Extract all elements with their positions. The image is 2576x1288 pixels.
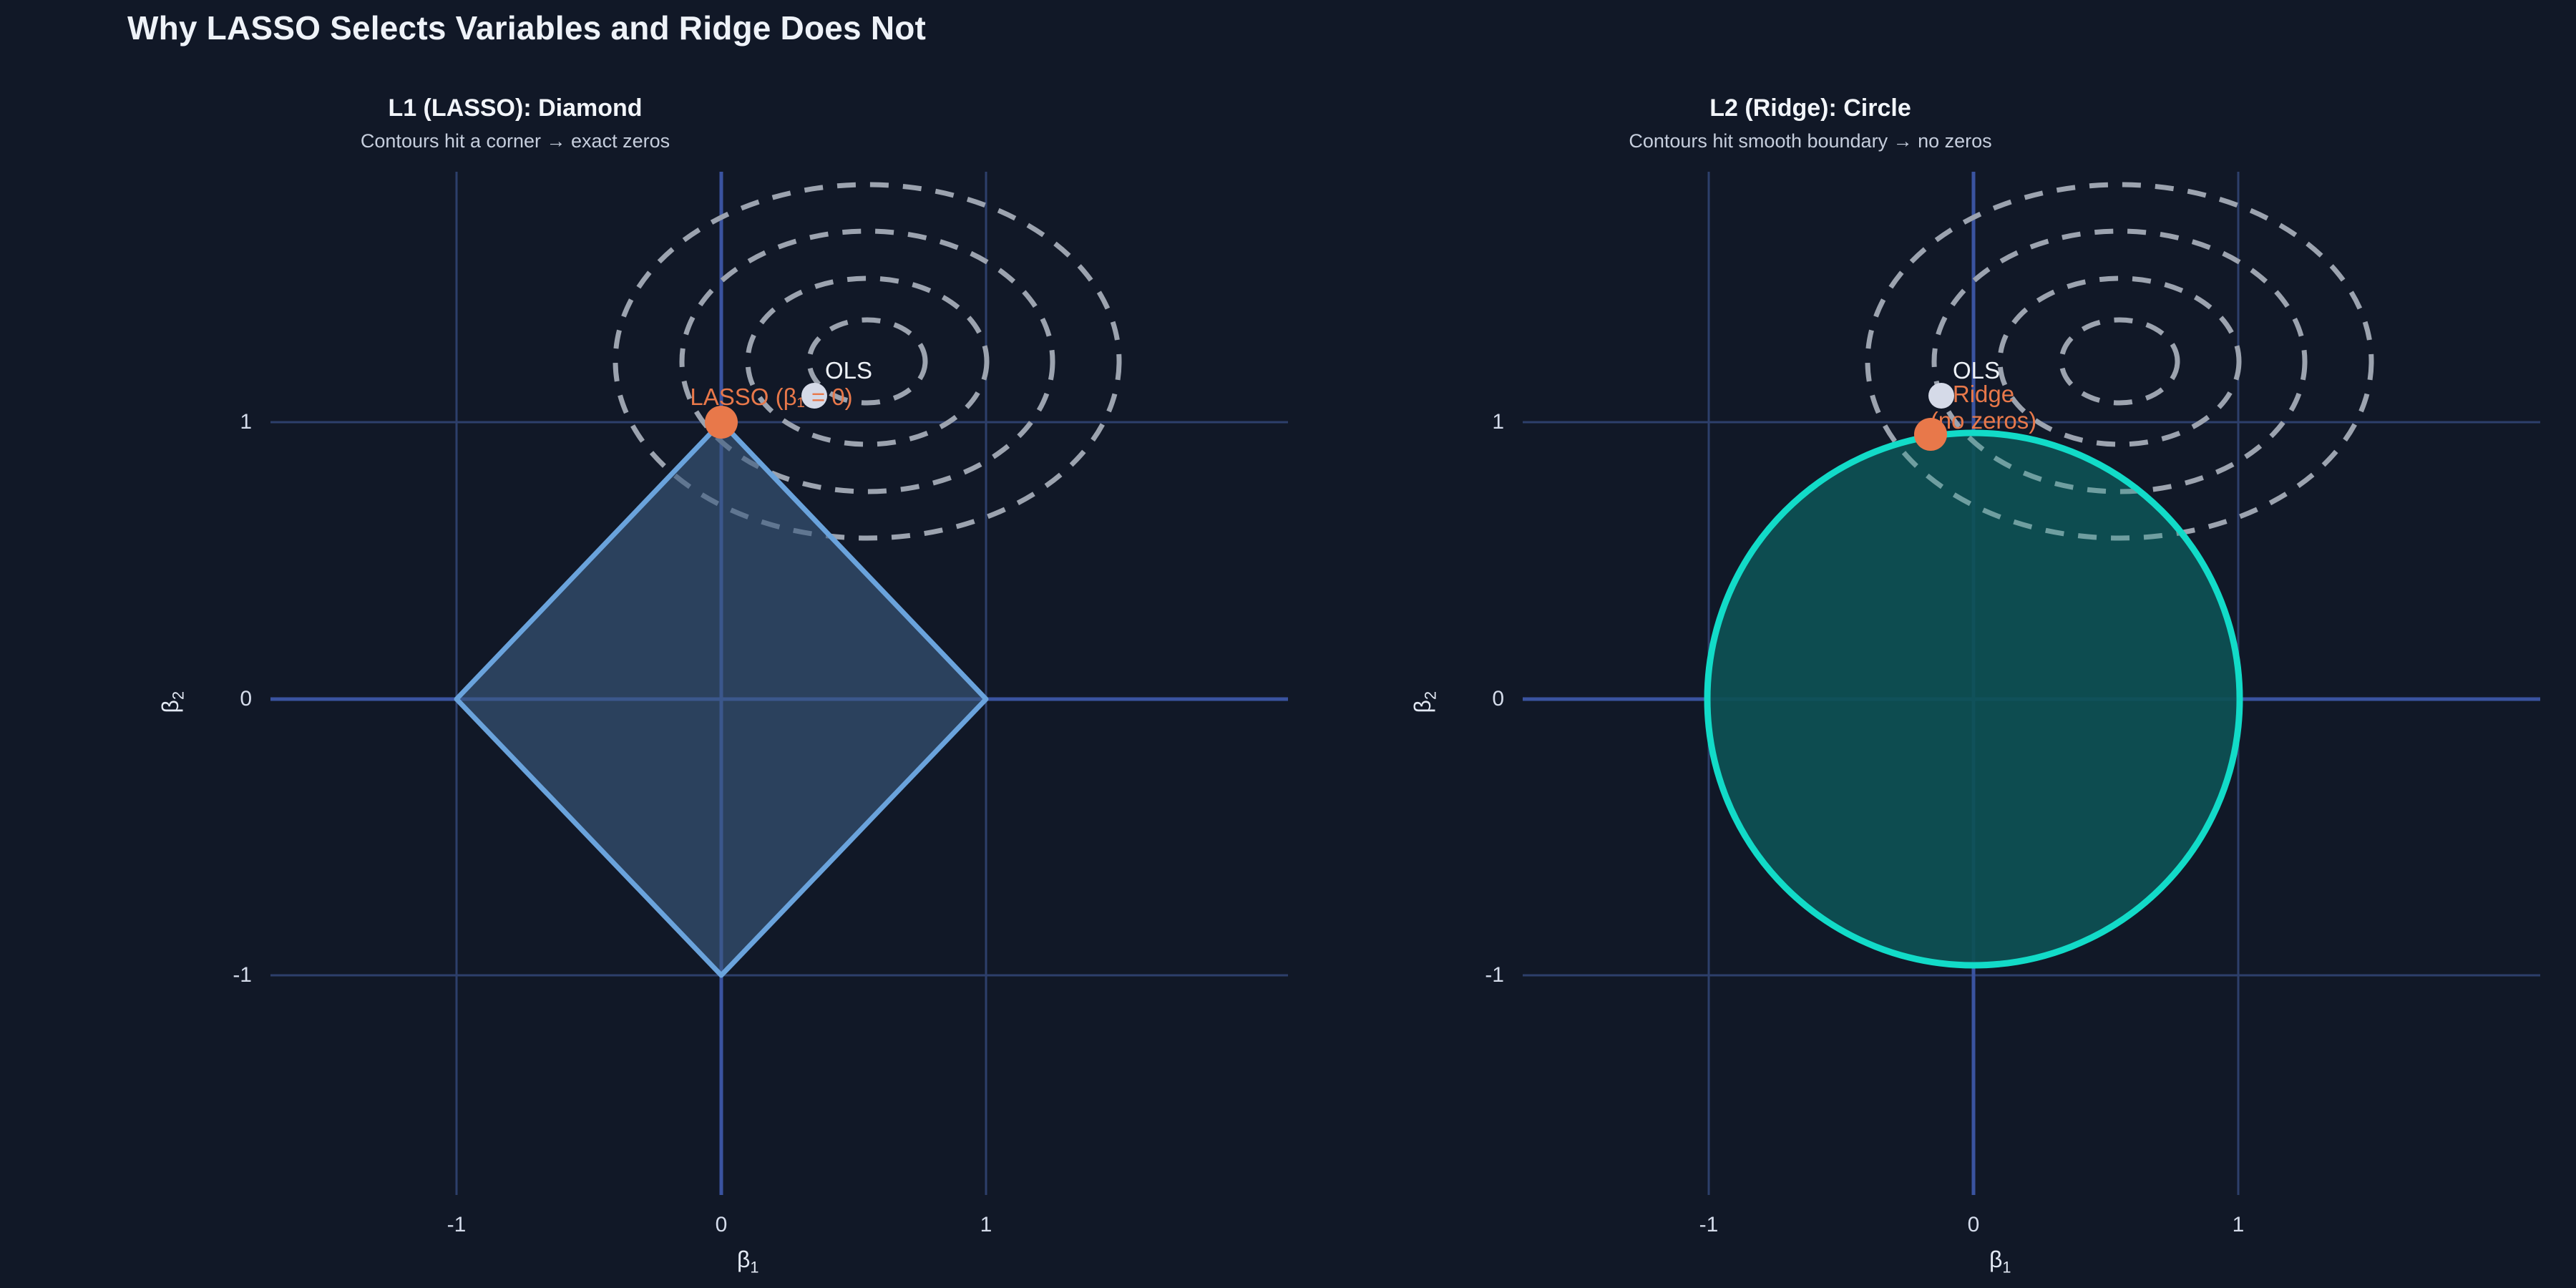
- lasso-solution-point: [705, 406, 738, 439]
- xtick-ridge-0: 0: [1968, 1213, 1980, 1237]
- xaxis-label-ridge: β1: [1989, 1246, 2011, 1277]
- panel-lasso: L1 (LASSO): Diamond Contours hit a corne…: [0, 0, 1288, 1288]
- panel-ridge: L2 (Ridge): Circle Contours hit smooth b…: [1288, 0, 2576, 1288]
- plot-area-lasso: [0, 0, 1288, 1288]
- ytick-lasso-neg1: -1: [187, 963, 252, 987]
- plot-area-ridge: [1288, 0, 2576, 1288]
- ytick-ridge-0: 0: [1440, 687, 1504, 711]
- xaxis-label-lasso: β1: [737, 1246, 759, 1277]
- ytick-lasso-0: 0: [187, 687, 252, 711]
- figure-root: Why LASSO Selects Variables and Ridge Do…: [0, 0, 2576, 1288]
- ytick-ridge-1: 1: [1440, 410, 1504, 434]
- yaxis-label-lasso: β2: [157, 691, 187, 713]
- xtick-ridge-neg1: -1: [1699, 1213, 1719, 1237]
- l1-constraint-diamond: [457, 422, 986, 975]
- l2-constraint-circle: [1707, 433, 2240, 965]
- xtick-lasso-1: 1: [980, 1213, 992, 1237]
- ols-point-lasso: [801, 383, 827, 409]
- ols-point-ridge: [1928, 383, 1954, 409]
- xtick-lasso-neg1: -1: [447, 1213, 467, 1237]
- yaxis-label-ridge: β2: [1410, 691, 1440, 713]
- xtick-lasso-0: 0: [716, 1213, 728, 1237]
- ytick-lasso-1: 1: [187, 410, 252, 434]
- ridge-solution-point: [1914, 418, 1947, 451]
- ytick-ridge-neg1: -1: [1440, 963, 1504, 987]
- xtick-ridge-1: 1: [2233, 1213, 2245, 1237]
